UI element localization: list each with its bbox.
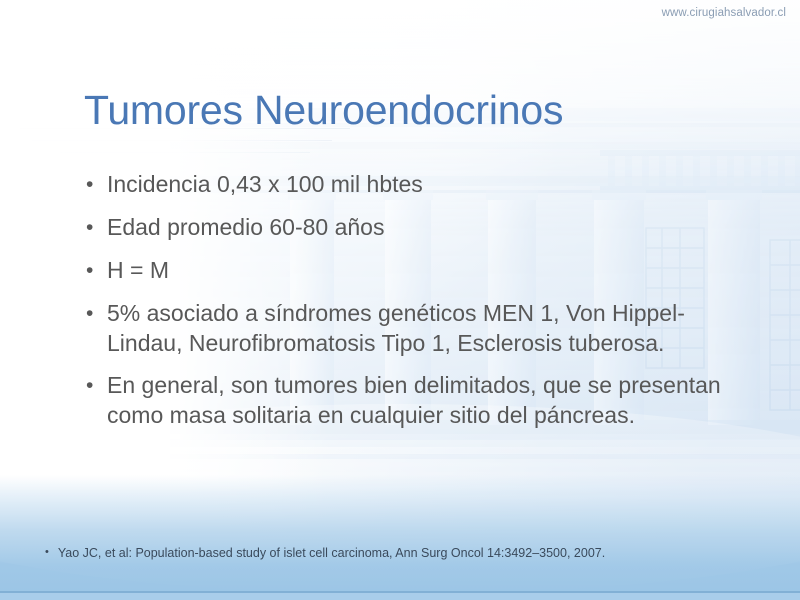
bullet-list: • Incidencia 0,43 x 100 mil hbtes • Edad… (84, 170, 759, 444)
slide-title: Tumores Neuroendocrinos (84, 89, 563, 132)
citation-footnote: • Yao JC, et al: Population-based study … (45, 545, 775, 561)
bullet-item-text: 5% asociado a síndromes genéticos MEN 1,… (107, 300, 685, 356)
bullet-item-text: H = M (107, 257, 169, 283)
bullet-point-icon: • (86, 171, 93, 198)
presentation-slide: www.cirugiahsalvador.cl Tumores Neuroend… (0, 0, 800, 600)
bullet-item: • 5% asociado a síndromes genéticos MEN … (84, 299, 759, 359)
decorative-ledge-line (60, 152, 310, 153)
citation-bullet-icon: • (45, 545, 49, 560)
bullet-item: • Edad promedio 60-80 años (84, 213, 759, 243)
footer-band (0, 475, 800, 600)
bullet-point-icon: • (86, 214, 93, 241)
bullet-item-text: Incidencia 0,43 x 100 mil hbtes (107, 171, 423, 197)
footer-base-strip (0, 593, 800, 600)
bullet-item: • Incidencia 0,43 x 100 mil hbtes (84, 170, 759, 200)
decorative-ledge-line (32, 140, 332, 141)
bullet-point-icon: • (86, 257, 93, 284)
bullet-item: • H = M (84, 256, 759, 286)
bullet-item: • En general, son tumores bien delimitad… (84, 371, 759, 431)
citation-text: Yao JC, et al: Population-based study of… (58, 545, 775, 561)
site-url-label: www.cirugiahsalvador.cl (662, 7, 786, 19)
bullet-point-icon: • (86, 300, 93, 327)
bullet-item-text: En general, son tumores bien delimitados… (107, 372, 721, 428)
bullet-point-icon: • (86, 372, 93, 399)
bullet-item-text: Edad promedio 60-80 años (107, 214, 384, 240)
